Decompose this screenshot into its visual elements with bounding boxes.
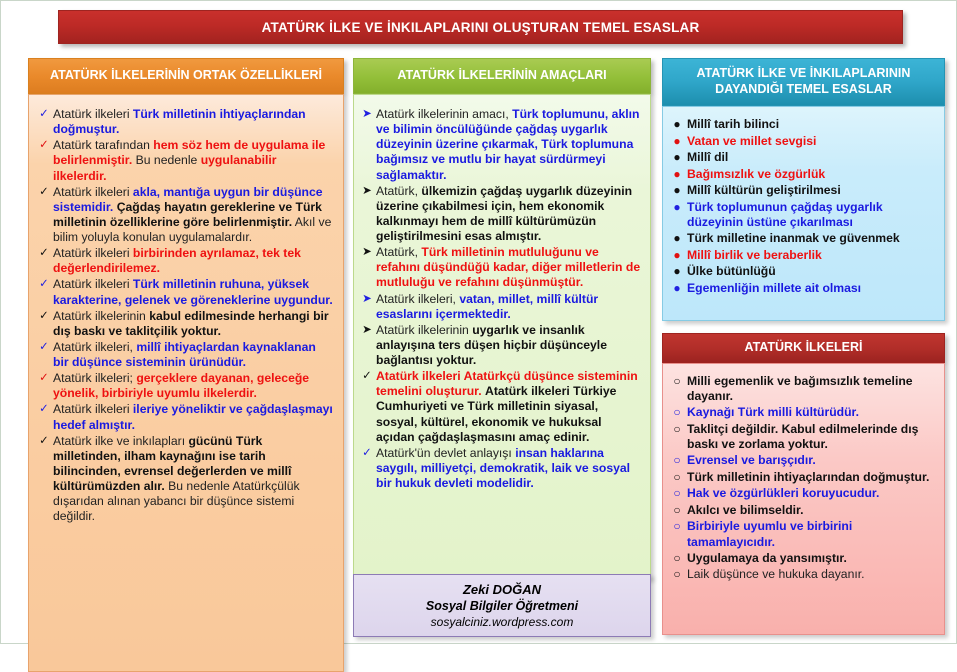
list-item-text: Atatürk ilkeleri, vatan, millet, millî k… [376,292,642,322]
list-item-text: Atatürk ilkelerinin amacı, Türk toplumun… [376,107,642,183]
list-item-text: Millî dil [687,150,938,165]
list-ortak-ozellikler: ✓Atatürk ilkeleri Türk milletinin ihtiya… [35,107,333,524]
list-item-text: Hak ve özgürlükleri koruyucudur. [687,486,938,501]
list-item: ○Uygulamaya da yansımıştır. [667,551,938,567]
panel-ortak-ozellikler: ATATÜRK İLKELERİNİN ORTAK ÖZELLİKLERİ ✓A… [28,58,344,672]
list-item: ●Egemenliğin millete ait olması [667,281,938,297]
infographic-page: ATATÜRK İLKE VE İNKILAPLARINI OLUŞTURAN … [0,0,957,644]
list-item: ○Taklitçi değildir. Kabul edilmelerinde … [667,422,938,452]
list-item-text: Ülke bütünlüğü [687,264,938,279]
list-item: ✓Atatürk tarafından hem söz hem de uygul… [35,138,333,183]
panel-header-ortak-ozellikler: ATATÜRK İLKELERİNİN ORTAK ÖZELLİKLERİ [28,58,344,94]
list-item-text: Vatan ve millet sevgisi [687,134,938,149]
list-item-text: Atatürk ilkelerinin kabul edilmesinde he… [53,309,333,339]
author-role: Sosyal Bilgiler Öğretmeni [426,599,578,613]
disc-icon: ● [667,200,687,216]
panel-temel-esaslar: ATATÜRK İLKE VE İNKILAPLARININ DAYANDIĞI… [662,58,945,321]
list-item-text: Atatürk ilkeleri, millî ihtiyaçlardan ka… [53,340,333,370]
check-icon: ✓ [35,402,53,417]
check-icon: ✓ [35,340,53,355]
list-item-text: Kaynağı Türk milli kültürüdür. [687,405,938,420]
circle-icon: ○ [667,503,687,519]
check-icon: ✓ [358,369,376,384]
disc-icon: ● [667,183,687,199]
check-icon: ✓ [35,138,53,153]
text-run: Atatürk ilkeleri; [53,371,136,385]
list-item-text: Millî tarih bilinci [687,117,938,132]
list-item: ○Kaynağı Türk milli kültürüdür. [667,405,938,421]
author-signature-box: Zeki DOĞAN Sosyal Bilgiler Öğretmeni sos… [353,574,651,637]
disc-icon: ● [667,248,687,264]
disc-icon: ● [667,134,687,150]
check-icon: ✓ [35,371,53,386]
list-amaclar: ➤Atatürk ilkelerinin amacı, Türk toplumu… [358,107,642,491]
check-icon: ✓ [35,185,53,200]
page-title: ATATÜRK İLKE VE İNKILAPLARINI OLUŞTURAN … [58,10,903,44]
check-icon: ✓ [35,277,53,292]
list-item: ●Millî dil [667,150,938,166]
list-item-text: Atatürk tarafından hem söz hem de uygula… [53,138,333,183]
check-icon: ✓ [358,446,376,461]
list-item: ✓Atatürk ilkeleri birbirinden ayrılamaz,… [35,246,333,276]
list-item: ●Ülke bütünlüğü [667,264,938,280]
list-item-text: Türk toplumunun çağdaş uygarlık düzeyini… [687,200,938,230]
list-item: ○Laik düşünce ve hukuka dayanır. [667,567,938,583]
list-item-text: Atatürk'ün devlet anlayışı insan hakları… [376,446,642,491]
text-run: Atatürk ilkeleri, [53,340,136,354]
disc-icon: ● [667,117,687,133]
text-run: Bu nedenle [132,153,200,167]
list-item-text: Bağımsızlık ve özgürlük [687,167,938,182]
list-item-text: Atatürk ilkelerinin uygarlık ve insanlık… [376,323,642,368]
panel-body-amaclar: ➤Atatürk ilkelerinin amacı, Türk toplumu… [353,94,651,579]
list-item: ✓Atatürk ilkeleri Atatürkçü düşünce sist… [358,369,642,445]
list-item-text: Türk milletinin ihtiyaçlarından doğmuştu… [687,470,938,485]
list-item: ✓Atatürk ilkeleri Türk milletinin ihtiya… [35,107,333,137]
circle-icon: ○ [667,422,687,438]
list-item: ➤Atatürk ilkelerinin uygarlık ve insanlı… [358,323,642,368]
list-item: ○Milli egemenlik ve bağımsızlık temeline… [667,374,938,404]
list-item-text: Atatürk, Türk milletinin mutluluğunu ve … [376,245,642,290]
list-item-text: Atatürk, ülkemizin çağdaş uygarlık düzey… [376,184,642,245]
list-item: ✓Atatürk ilkeleri Türk milletinin ruhuna… [35,277,333,307]
list-item: ✓Atatürk ilkelerinin kabul edilmesinde h… [35,309,333,339]
text-run: Atatürk ilkelerinin [53,309,149,323]
check-icon: ✓ [35,246,53,261]
circle-icon: ○ [667,567,687,583]
circle-icon: ○ [667,374,687,390]
panel-header-ataturk-ilkeleri: ATATÜRK İLKELERİ [662,333,945,363]
list-item: ✓Atatürk ilke ve inkılapları gücünü Türk… [35,434,333,525]
text-run: Atatürk, [376,245,421,259]
panel-body-temel-esaslar: ●Millî tarih bilinci●Vatan ve millet sev… [662,106,945,321]
list-item-text: Birbiriyle uyumlu ve birbirini tamamlayı… [687,519,938,549]
panel-header-temel-esaslar: ATATÜRK İLKE VE İNKILAPLARININ DAYANDIĞI… [662,58,945,106]
circle-icon: ○ [667,453,687,469]
list-item-text: Millî kültürün geliştirilmesi [687,183,938,198]
text-run: Atatürk, [376,184,421,198]
list-item-text: Uygulamaya da yansımıştır. [687,551,938,566]
panel-ataturk-ilkeleri: ATATÜRK İLKELERİ ○Milli egemenlik ve bağ… [662,333,945,635]
check-icon: ✓ [35,434,53,449]
list-ataturk-ilkeleri: ○Milli egemenlik ve bağımsızlık temeline… [667,374,938,583]
text-run: Atatürk'ün devlet anlayışı [376,446,515,460]
text-run: Atatürk ilkeleri [53,277,133,291]
disc-icon: ● [667,231,687,247]
list-item: ●Bağımsızlık ve özgürlük [667,167,938,183]
author-name: Zeki DOĞAN [463,582,541,597]
list-item: ○Hak ve özgürlükleri koruyucudur. [667,486,938,502]
arrow-icon: ➤ [358,323,376,338]
arrow-icon: ➤ [358,245,376,260]
list-item: ○Türk milletinin ihtiyaçlarından doğmuşt… [667,470,938,486]
list-item: ●Millî birlik ve beraberlik [667,248,938,264]
list-item-text: Atatürk ilkeleri Atatürkçü düşünce siste… [376,369,642,445]
text-run: Atatürk ilkeleri [53,246,133,260]
list-item-text: Atatürk ilkeleri Türk milletinin ruhuna,… [53,277,333,307]
list-item-text: Atatürk ilkeleri ileriye yöneliktir ve ç… [53,402,333,432]
list-item: ➤Atatürk ilkelerinin amacı, Türk toplumu… [358,107,642,183]
list-item: ✓Atatürk ilkeleri, millî ihtiyaçlardan k… [35,340,333,370]
text-run: Atatürk ilkeleri [53,402,133,416]
list-item-text: Millî birlik ve beraberlik [687,248,938,263]
check-icon: ✓ [35,309,53,324]
arrow-icon: ➤ [358,184,376,199]
list-item-text: Evrensel ve barışçıdır. [687,453,938,468]
list-item-text: Milli egemenlik ve bağımsızlık temeline … [687,374,938,404]
list-item: ➤Atatürk, Türk milletinin mutluluğunu ve… [358,245,642,290]
panel-header-amaclar: ATATÜRK İLKELERİNİN AMAÇLARI [353,58,651,94]
text-run: Atatürk ilkelerinin [376,323,472,337]
disc-icon: ● [667,264,687,280]
list-item-text: Taklitçi değildir. Kabul edilmelerinde d… [687,422,938,452]
list-item: ✓Atatürk'ün devlet anlayışı insan haklar… [358,446,642,491]
list-item: ○Birbiriyle uyumlu ve birbirini tamamlay… [667,519,938,549]
circle-icon: ○ [667,470,687,486]
circle-icon: ○ [667,551,687,567]
list-item-text: Atatürk ilke ve inkılapları gücünü Türk … [53,434,333,525]
list-item-text: Atatürk ilkeleri birbirinden ayrılamaz, … [53,246,333,276]
circle-icon: ○ [667,486,687,502]
arrow-icon: ➤ [358,107,376,122]
list-item: ●Türk milletine inanmak ve güvenmek [667,231,938,247]
text-run: Atatürk ilkeleri, [376,292,459,306]
list-item: ✓Atatürk ilkeleri; gerçeklere dayanan, g… [35,371,333,401]
list-item-text: Atatürk ilkeleri akla, mantığa uygun bir… [53,185,333,246]
text-run: Atatürk ilkeleri [53,107,133,121]
list-item: ✓Atatürk ilkeleri akla, mantığa uygun bi… [35,185,333,246]
list-item: ○Evrensel ve barışçıdır. [667,453,938,469]
arrow-icon: ➤ [358,292,376,307]
list-item-text: Akılcı ve bilimseldir. [687,503,938,518]
disc-icon: ● [667,281,687,297]
disc-icon: ● [667,150,687,166]
list-item: ●Türk toplumunun çağdaş uygarlık düzeyin… [667,200,938,230]
check-icon: ✓ [35,107,53,122]
panel-body-ataturk-ilkeleri: ○Milli egemenlik ve bağımsızlık temeline… [662,363,945,635]
text-run: Atatürk ilkelerinin amacı, [376,107,512,121]
text-run: Atatürk tarafından [53,138,153,152]
list-item: ➤Atatürk, ülkemizin çağdaş uygarlık düze… [358,184,642,245]
panel-body-ortak-ozellikler: ✓Atatürk ilkeleri Türk milletinin ihtiya… [28,94,344,672]
circle-icon: ○ [667,519,687,535]
author-website[interactable]: sosyalciniz.wordpress.com [431,615,574,629]
circle-icon: ○ [667,405,687,421]
list-item: ●Vatan ve millet sevgisi [667,134,938,150]
list-item: ➤Atatürk ilkeleri, vatan, millet, millî … [358,292,642,322]
list-item-text: Laik düşünce ve hukuka dayanır. [687,567,938,582]
text-run: Atatürk ilke ve inkılapları [53,434,188,448]
list-item: ○Akılcı ve bilimseldir. [667,503,938,519]
list-item: ●Millî kültürün geliştirilmesi [667,183,938,199]
list-item-text: Türk milletine inanmak ve güvenmek [687,231,938,246]
list-item: ✓Atatürk ilkeleri ileriye yöneliktir ve … [35,402,333,432]
panel-amaclar: ATATÜRK İLKELERİNİN AMAÇLARI ➤Atatürk il… [353,58,651,579]
list-item-text: Egemenliğin millete ait olması [687,281,938,296]
list-temel-esaslar: ●Millî tarih bilinci●Vatan ve millet sev… [667,117,938,297]
list-item-text: Atatürk ilkeleri; gerçeklere dayanan, ge… [53,371,333,401]
disc-icon: ● [667,167,687,183]
list-item-text: Atatürk ilkeleri Türk milletinin ihtiyaç… [53,107,333,137]
list-item: ●Millî tarih bilinci [667,117,938,133]
text-run: Atatürk ilkeleri [53,185,133,199]
